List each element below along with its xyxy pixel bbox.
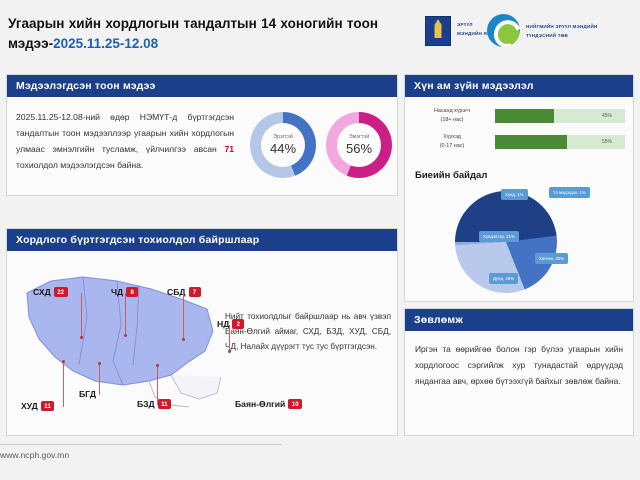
map-marker-name: ХУД xyxy=(21,401,38,411)
footer-divider xyxy=(0,444,282,445)
reported-text-before: 2025.11.25-12.08-ний өдөр НЭМҮТ-д бүртгэ… xyxy=(16,112,234,154)
map-body: Нийт тохиолдлыг байршлаар нь авч үзвэл Б… xyxy=(7,251,397,431)
map-summary-text: Нийт тохиолдлыг байршлаар нь авч үзвэл Б… xyxy=(225,309,391,355)
condition-pie-title: Биеийн байдал xyxy=(415,170,633,181)
reported-figures-body: 2025.11.25-12.08-ний өдөр НЭМҮТ-д бүртгэ… xyxy=(7,97,397,191)
map-marker-dot xyxy=(228,350,231,353)
map-marker-dot xyxy=(182,338,185,341)
map-marker-count-badge: 11 xyxy=(41,401,55,411)
condition-pie-callout: Хүндэвтэр, 21% xyxy=(479,231,519,243)
age-group-bar-track: 45% xyxy=(495,109,625,123)
map-marker-бгд: БГД xyxy=(79,389,96,399)
female-donut-label: Эмэгтэй xyxy=(349,134,369,140)
footer-website-url: www.ncph.gov.mn xyxy=(0,450,69,460)
map-marker-dot xyxy=(156,364,159,367)
ministry-emblem-icon xyxy=(425,16,451,46)
age-group-bar-fill xyxy=(495,135,567,149)
reported-text-after: тохиолдол мэдээлэгдсэн байна. xyxy=(16,160,143,170)
reported-figures-panel: Мэдээлэгдсэн тоон мэдээ 2025.11.25-12.08… xyxy=(6,74,398,196)
condition-pie-callout: Хөнгөн, 30% xyxy=(535,253,568,265)
age-group-bar-value: 45% xyxy=(602,113,612,119)
recommendation-panel: Зөвлөмж Иргэн та өөрийгөө болон гэр бүлэ… xyxy=(404,308,634,436)
ministry-of-health-logo: ЭРҮҮЛМЭНДИЙН ЯАМ xyxy=(425,16,451,46)
map-marker-count-badge: 11 xyxy=(158,399,172,409)
condition-pie-callout: Үл мэдэгдэх, 1% xyxy=(549,187,590,199)
map-marker-name: Баян-Өлгий xyxy=(235,399,285,409)
map-marker-бзд: БЗД11 xyxy=(137,399,171,409)
ncph-logo: НИЙГМИЙН ЭРҮҮЛ МЭНДИЙНТҮНДЭСНИЙ ТӨВ xyxy=(487,14,520,47)
map-marker-dot xyxy=(98,362,101,365)
map-marker-leader-line xyxy=(183,293,184,339)
female-donut-center: Эмэгтэй 56% xyxy=(337,123,381,167)
reported-summary-text: 2025.11.25-12.08-ний өдөр НЭМҮТ-д бүртгэ… xyxy=(16,110,234,174)
map-marker-name: БГД xyxy=(79,389,96,399)
condition-pie-wrapper: Дунд, 48%Хүндэвтэр, 21%Хөнгөн, 30%Хүнд, … xyxy=(405,181,633,301)
map-marker-баян-өлгий: Баян-Өлгий10 xyxy=(235,399,302,409)
map-marker-leader-line xyxy=(99,363,100,395)
map-marker-dot xyxy=(62,360,65,363)
map-heading: Хордлого бүртгэгдсэн тохиолдол байршлаар xyxy=(7,229,397,251)
map-marker-leader-line xyxy=(125,293,126,335)
map-marker-count-badge: 8 xyxy=(126,287,138,297)
age-group-bar-label: Насанд хүрэгч(18+ нас) xyxy=(413,107,495,124)
female-donut-value: 56% xyxy=(346,141,372,156)
recommendation-heading: Зөвлөмж xyxy=(405,309,633,331)
age-group-bar-value: 55% xyxy=(602,139,612,145)
map-marker-leader-line xyxy=(157,365,158,405)
male-percentage-donut-chart: Эрэгтэй 44% xyxy=(250,112,316,178)
map-marker-name: ЧД xyxy=(111,287,123,297)
reported-case-count: 71 xyxy=(224,144,234,154)
map-marker-нд: НД2 xyxy=(217,319,244,329)
condition-pie-callout: Хүнд, 1% xyxy=(501,189,528,201)
map-marker-leader-line xyxy=(229,325,230,351)
map-marker-name: БЗД xyxy=(137,399,155,409)
map-marker-name: СХД xyxy=(33,287,51,297)
map-marker-dot xyxy=(124,334,127,337)
demographics-panel: Хүн ам зүйн мэдээлэл Насанд хүрэгч(18+ н… xyxy=(404,74,634,302)
page-title: Угаарын хийн хордлогын тандалтын 14 хоно… xyxy=(8,14,378,55)
ncph-logo-text: НИЙГМИЙН ЭРҮҮЛ МЭНДИЙНТҮНДЭСНИЙ ТӨВ xyxy=(526,23,598,40)
map-marker-count-badge: 2 xyxy=(232,319,244,329)
male-donut-center: Эрэгтэй 44% xyxy=(261,123,305,167)
demographics-heading: Хүн ам зүйн мэдээлэл xyxy=(405,75,633,97)
age-group-bar-row: Насанд хүрэгч(18+ нас)45% xyxy=(413,107,625,124)
age-group-bar-track: 55% xyxy=(495,135,625,149)
page-header: Угаарын хийн хордлогын тандалтын 14 хоно… xyxy=(0,0,640,70)
case-location-map-panel: Хордлого бүртгэгдсэн тохиолдол байршлаар… xyxy=(6,228,398,436)
male-donut-value: 44% xyxy=(270,141,296,156)
map-marker-схд: СХД22 xyxy=(33,287,68,297)
female-percentage-donut-chart: Эмэгтэй 56% xyxy=(326,112,392,178)
age-group-bar-row: Хүүхэд(0-17 нас)55% xyxy=(413,133,625,150)
age-group-bar-label: Хүүхэд(0-17 нас) xyxy=(413,133,495,150)
ncph-swirl-icon xyxy=(487,14,520,47)
reported-figures-heading: Мэдээлэгдсэн тоон мэдээ xyxy=(7,75,397,97)
map-marker-худ: ХУД11 xyxy=(21,401,54,411)
age-group-bar-chart: Насанд хүрэгч(18+ нас)45%Хүүхэд(0-17 нас… xyxy=(405,97,633,164)
map-marker-count-badge: 22 xyxy=(54,287,68,297)
page-title-date: 2025.11.25-12.08 xyxy=(53,36,158,51)
map-marker-dot xyxy=(80,336,83,339)
recommendation-text: Иргэн та өөрийгөө болон гэр бүлээ угаары… xyxy=(405,331,633,401)
map-marker-leader-line xyxy=(81,293,82,337)
condition-pie-callout: Дунд, 48% xyxy=(489,273,518,285)
map-marker-count-badge: 10 xyxy=(288,399,302,409)
male-donut-label: Эрэгтэй xyxy=(273,134,293,140)
map-marker-count-badge: 7 xyxy=(189,287,201,297)
map-marker-name: НД xyxy=(217,319,229,329)
age-group-bar-fill xyxy=(495,109,554,123)
map-marker-leader-line xyxy=(63,361,64,407)
